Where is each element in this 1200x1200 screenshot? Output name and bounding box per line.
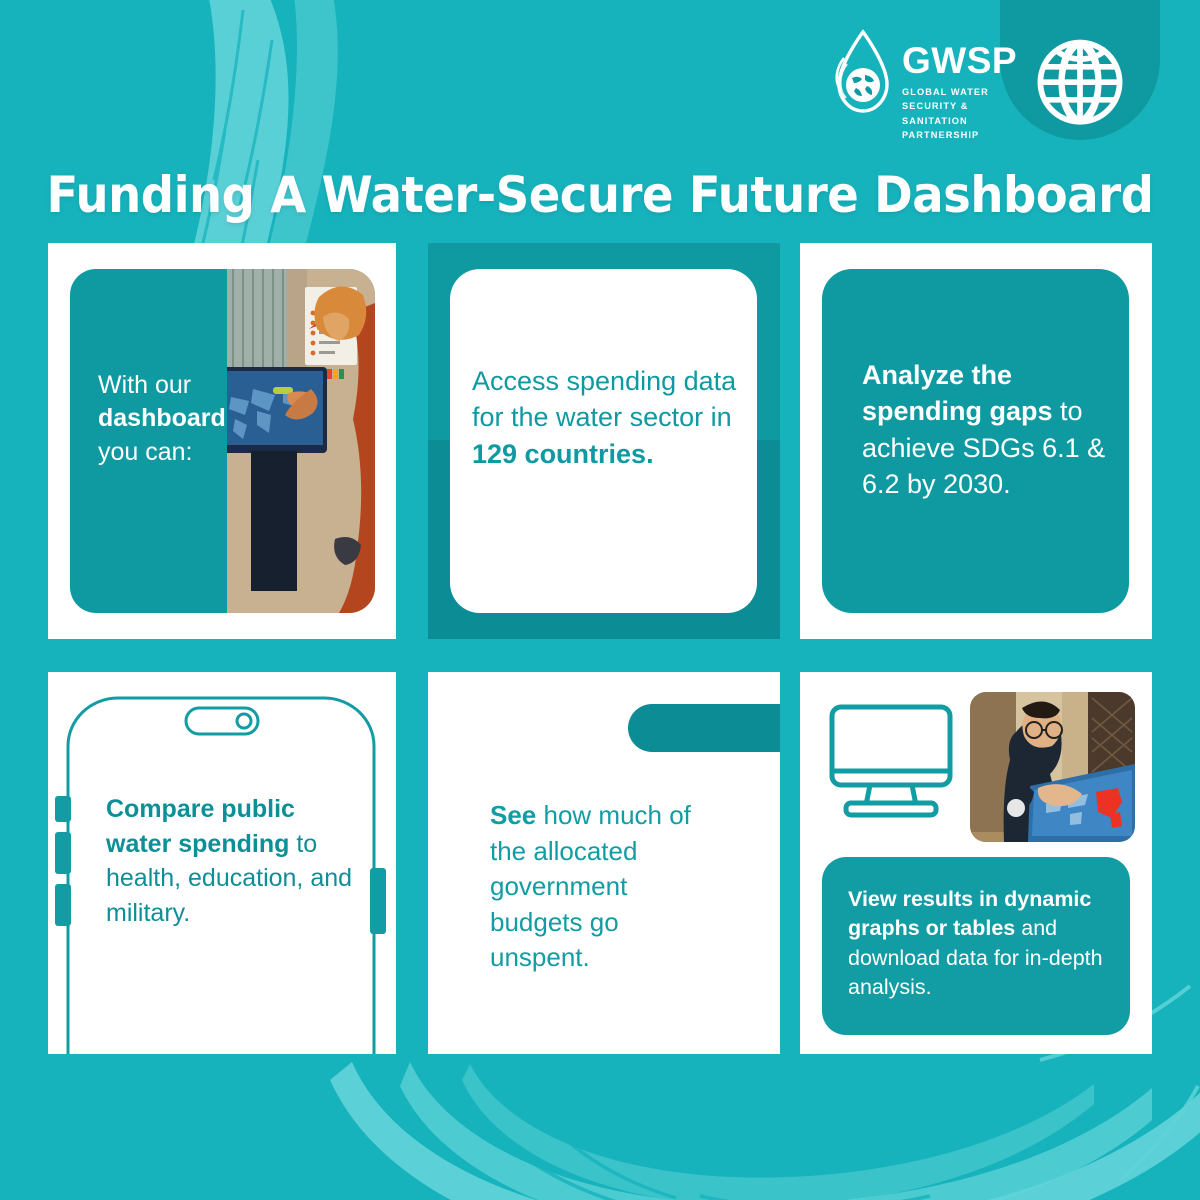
card-with-our-dashboard: With our dashboard you can: — [48, 243, 396, 639]
card-compare-public-water-spending: Compare public water spending to health,… — [48, 672, 396, 1054]
card-3-text: Analyze the spending gaps to achieve SDG… — [862, 357, 1122, 503]
gwsp-logo: GWSP GLOBAL WATER SECURITY & SANITATION … — [832, 28, 1002, 133]
card-1-text: With our dashboard you can: — [98, 369, 258, 469]
card-1-inner-panel: With our dashboard you can: — [70, 269, 375, 613]
card-see-unspent-budgets: See how much of the allocated government… — [428, 672, 780, 1054]
card-3-inner-panel: Analyze the spending gaps to achieve SDG… — [822, 269, 1129, 613]
card-2-text-bold: 129 countries. — [472, 439, 654, 469]
monitor-outline-icon — [826, 697, 956, 822]
card-4-text: Compare public water spending to health,… — [106, 792, 356, 930]
card-2-text-plain: Access spending data for the water secto… — [472, 366, 736, 432]
card-6-text-block: View results in dynamic graphs or tables… — [822, 857, 1130, 1035]
card-view-results: View results in dynamic graphs or tables… — [800, 672, 1152, 1054]
card-6-text: View results in dynamic graphs or tables… — [848, 885, 1118, 1003]
photo-man-map-screen — [970, 692, 1135, 842]
card-access-spending-data: Access spending data for the water secto… — [428, 243, 780, 639]
globe-icon — [1025, 25, 1135, 135]
page-title: Funding A Water-Secure Future Dashboard — [42, 166, 1158, 224]
card-1-text-tail: you can: — [98, 438, 193, 466]
gwsp-subtitle: GLOBAL WATER SECURITY & SANITATION PARTN… — [902, 85, 1022, 142]
gwsp-subtitle-line3: PARTNERSHIP — [902, 128, 1022, 142]
gwsp-wordmark: GWSP GLOBAL WATER SECURITY & SANITATION … — [902, 42, 1022, 142]
card-1-text-bold: dashboard — [98, 404, 226, 432]
card-3-text-bold: Analyze the spending gaps — [862, 360, 1053, 426]
gwsp-name: GWSP — [902, 42, 1022, 79]
card-5-accent-bar — [628, 704, 780, 752]
gwsp-subtitle-line2: SECURITY & SANITATION — [902, 99, 1022, 128]
gwsp-subtitle-line1: GLOBAL WATER — [902, 85, 1022, 99]
card-analyze-spending-gaps: Analyze the spending gaps to achieve SDG… — [800, 243, 1152, 639]
card-4-text-bold: Compare public water spending — [106, 795, 295, 858]
card-5-text-bold: See — [490, 800, 536, 830]
water-drop-globe-icon — [832, 28, 894, 128]
card-2-text: Access spending data for the water secto… — [472, 363, 742, 472]
card-2-inner-panel: Access spending data for the water secto… — [450, 269, 757, 613]
card-5-text: See how much of the allocated government… — [490, 798, 720, 976]
infographic-canvas: GWSP GLOBAL WATER SECURITY & SANITATION … — [0, 0, 1200, 1200]
card-1-text-lead: With our — [98, 371, 191, 399]
